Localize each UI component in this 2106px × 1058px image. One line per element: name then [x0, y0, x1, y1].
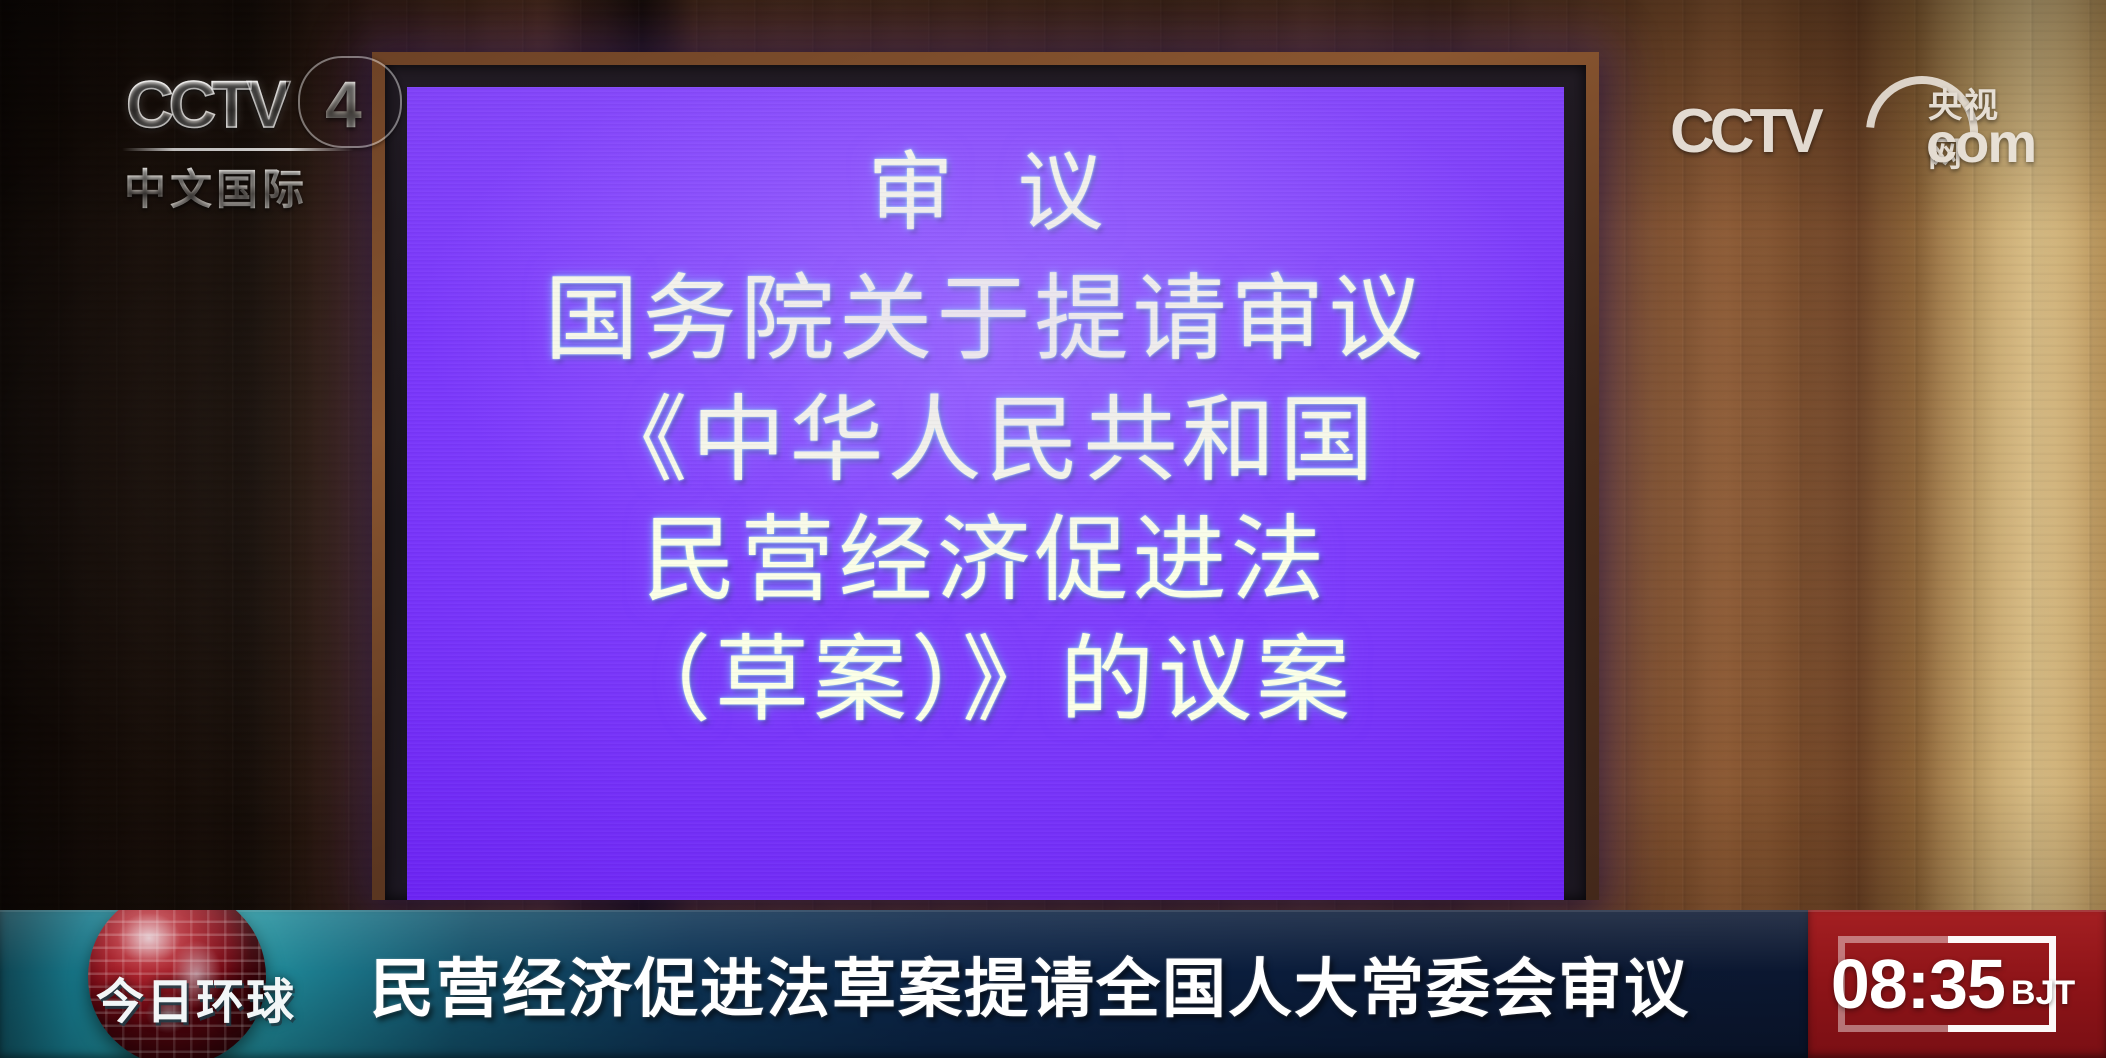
- channel-name-label: 中文国际: [124, 156, 308, 217]
- slide-content: 审议 国务院关于提请审议 《中华人民共和国 民营经济促进法 （草案）》的议案: [407, 143, 1564, 742]
- broadcast-frame: 审议 国务院关于提请审议 《中华人民共和国 民营经济促进法 （草案）》的议案 C…: [0, 0, 2106, 1058]
- slide-line-2: 《中华人民共和国: [407, 381, 1564, 501]
- clock-panel: 08:35 BJT: [1808, 910, 2106, 1058]
- program-badge: 今日环球: [0, 910, 318, 1058]
- slide-line-3: 民营经济促进法: [407, 501, 1564, 621]
- watermark-site-tld-label: com: [1926, 110, 2035, 175]
- slide-title: 审议: [407, 143, 1564, 244]
- channel-logo-cctv4: CCTV 4 中文国际: [120, 52, 400, 192]
- program-name-label: 今日环球: [96, 962, 296, 1032]
- slide-line-4: （草案）》的议案: [407, 621, 1564, 741]
- channel-logo-underline: [122, 148, 354, 151]
- slide-line-1: 国务院关于提请审议: [407, 260, 1564, 380]
- cctv-com-watermark: CCTV 央视网 com: [1670, 52, 2030, 172]
- channel-logo-row: CCTV 4: [120, 52, 400, 144]
- clock-time-label: 08:35: [1831, 944, 2005, 1024]
- lower-third-main: 今日环球 民营经济促进法草案提请全国人大常委会审议: [0, 910, 1808, 1058]
- projection-screen-surface: 审议 国务院关于提请审议 《中华人民共和国 民营经济促进法 （草案）》的议案: [407, 87, 1564, 900]
- channel-number-label: 4: [325, 66, 362, 142]
- news-headline: 民营经济促进法草案提请全国人大常委会审议: [370, 938, 1690, 1030]
- channel-network-label: CCTV: [126, 66, 286, 142]
- watermark-network-label: CCTV: [1670, 96, 1819, 167]
- projection-screen-bezel: 审议 国务院关于提请审议 《中华人民共和国 民营经济促进法 （草案）》的议案: [385, 65, 1586, 900]
- projection-screen-frame: 审议 国务院关于提请审议 《中华人民共和国 民营经济促进法 （草案）》的议案: [372, 52, 1599, 900]
- lower-third-bar: 今日环球 民营经济促进法草案提请全国人大常委会审议 08:35 BJT: [0, 910, 2106, 1058]
- clock-timezone-label: BJT: [2011, 974, 2075, 1013]
